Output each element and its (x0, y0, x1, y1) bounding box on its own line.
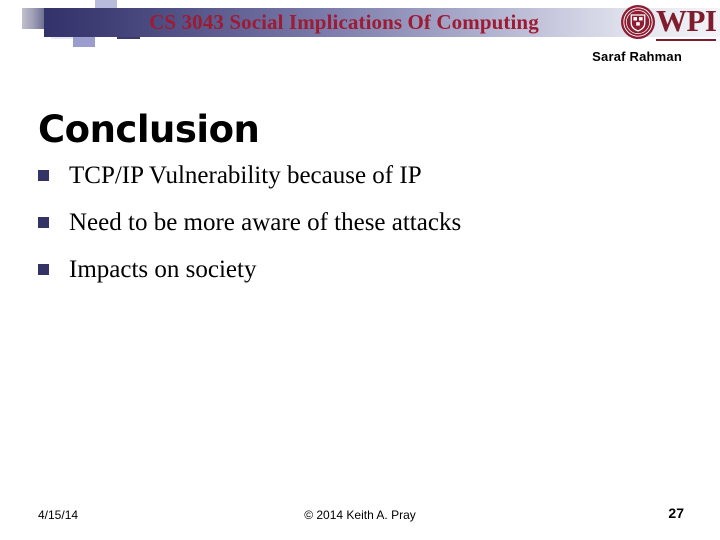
list-item: TCP/IP Vulnerability because of IP (38, 160, 678, 191)
wpi-logo: WPI (620, 2, 716, 42)
course-title: CS 3043 Social Implications Of Computing (44, 7, 644, 38)
bullet-list: TCP/IP Vulnerability because of IP Need … (38, 160, 678, 301)
bullet-square-icon (38, 217, 49, 228)
slide-header: CS 3043 Social Implications Of Computing… (0, 0, 720, 46)
list-item-label: Impacts on society (69, 254, 256, 285)
list-item: Impacts on society (38, 254, 678, 285)
slide-number: 27 (668, 505, 684, 521)
list-item: Need to be more aware of these attacks (38, 207, 678, 238)
presentation-slide: CS 3043 Social Implications Of Computing… (0, 0, 720, 540)
page-title: Conclusion (38, 108, 259, 152)
wpi-seal-icon (620, 4, 656, 40)
bullet-square-icon (38, 170, 49, 181)
list-item-label: Need to be more aware of these attacks (69, 207, 461, 238)
list-item-label: TCP/IP Vulnerability because of IP (69, 160, 422, 191)
footer-copyright: © 2014 Keith A. Pray (0, 508, 720, 522)
wpi-wordmark: WPI (656, 2, 717, 40)
wpi-underline (656, 39, 716, 41)
presenter-name: Saraf Rahman (592, 49, 682, 64)
bullet-square-icon (38, 264, 49, 275)
